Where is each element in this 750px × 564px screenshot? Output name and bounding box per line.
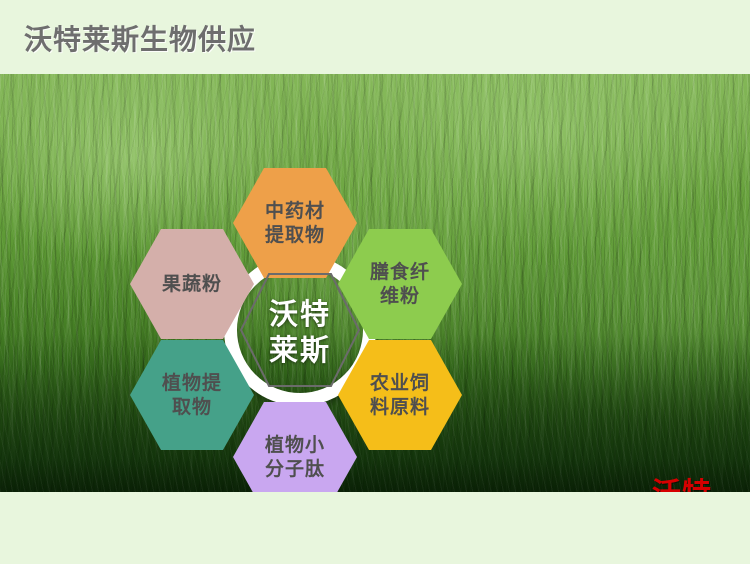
center-brand-line2: 莱斯 [269,332,331,368]
hexagon-tcm-extracts[interactable]: 中药材 提取物 [233,168,357,278]
center-brand-label: 沃特 莱斯 [238,270,362,394]
hexagon-fruit-vegetable-powder-line1: 果蔬粉 [162,272,222,296]
hexagon-agricultural-feed-materials-line1: 农业饲 [370,371,430,395]
hexagon-plant-peptides[interactable]: 植物小 分子肽 [233,402,357,492]
center-brand-line1: 沃特 [269,296,331,332]
slide-canvas: 沃特莱斯生物供应 中药材 提取物 膳食纤 维粉 [0,0,750,564]
hexagon-plant-peptides-line1: 植物小 [265,433,325,457]
page-title: 沃特莱斯生物供应 [24,18,256,58]
hexagon-tcm-extracts-line1: 中药材 [265,199,325,223]
background-photo: 中药材 提取物 膳食纤 维粉 农业饲 料原料 [0,74,750,492]
brand-watermark-line1: 沃特 [652,478,736,492]
hexagon-plant-extracts-line1: 植物提 [162,371,222,395]
header-band: 沃特莱斯生物供应 [0,0,750,74]
hexagon-dietary-fiber-powder-line2: 维粉 [370,284,430,308]
hexagon-agricultural-feed-materials-line2: 料原料 [370,395,430,419]
hexagon-plant-peptides-line2: 分子肽 [265,457,325,481]
hexagon-plant-extracts-line2: 取物 [162,395,222,419]
footer-band [0,492,750,564]
hexagon-tcm-extracts-line2: 提取物 [265,223,325,247]
hexagon-diagram: 中药材 提取物 膳食纤 维粉 农业饲 料原料 [120,154,480,492]
brand-watermark: 沃特 莱斯 [652,478,736,492]
hexagon-dietary-fiber-powder-line1: 膳食纤 [370,260,430,284]
